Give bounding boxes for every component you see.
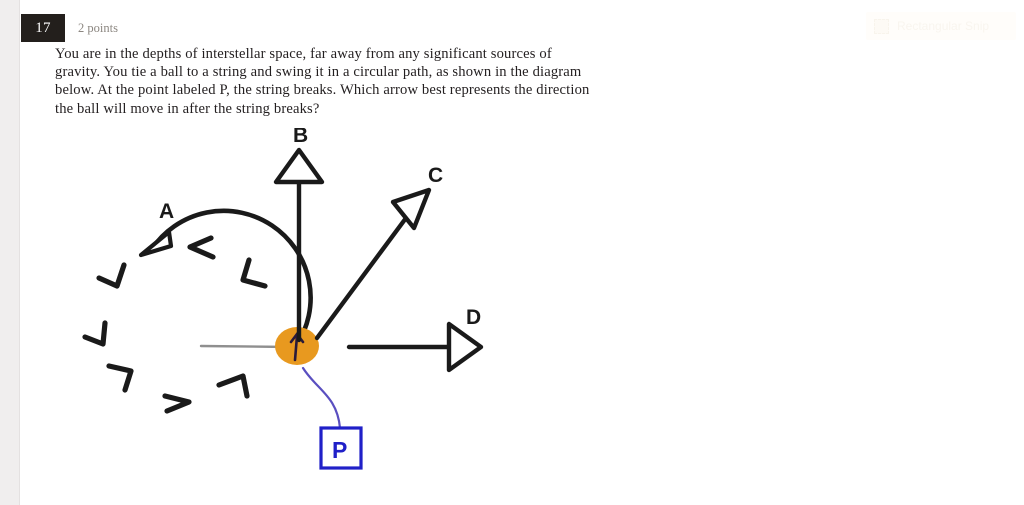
question-text: You are in the depths of interstellar sp… [55, 45, 600, 118]
snip-tool-overlay[interactable]: Rectangular Snip [866, 12, 1016, 40]
diagram-svg: B C D A P [81, 128, 511, 478]
left-gutter [0, 0, 20, 505]
question-page: 17 2 points You are in the depths of int… [0, 0, 1024, 505]
point-P-label: P [332, 437, 347, 463]
circular-path [152, 211, 311, 346]
question-content: 17 2 points You are in the depths of int… [21, 0, 1024, 505]
snip-tool-label: Rectangular Snip [897, 19, 989, 33]
arrow-D-label: D [466, 306, 481, 329]
arrow-B [276, 150, 322, 340]
path-direction-chevrons [85, 238, 265, 411]
physics-diagram: B C D A P [81, 128, 511, 478]
arrow-C [317, 190, 429, 338]
arrow-B-label: B [293, 128, 308, 147]
path-arrowhead-open [141, 232, 171, 255]
question-header: 17 2 points [21, 14, 118, 42]
question-points-label: 2 points [78, 22, 118, 35]
arrow-A-label: A [159, 200, 174, 223]
rectangular-snip-icon [874, 19, 889, 34]
question-number-badge: 17 [21, 14, 65, 42]
arrow-D [349, 324, 481, 370]
callout-leader-line [303, 368, 340, 428]
arrow-C-label: C [428, 164, 443, 187]
